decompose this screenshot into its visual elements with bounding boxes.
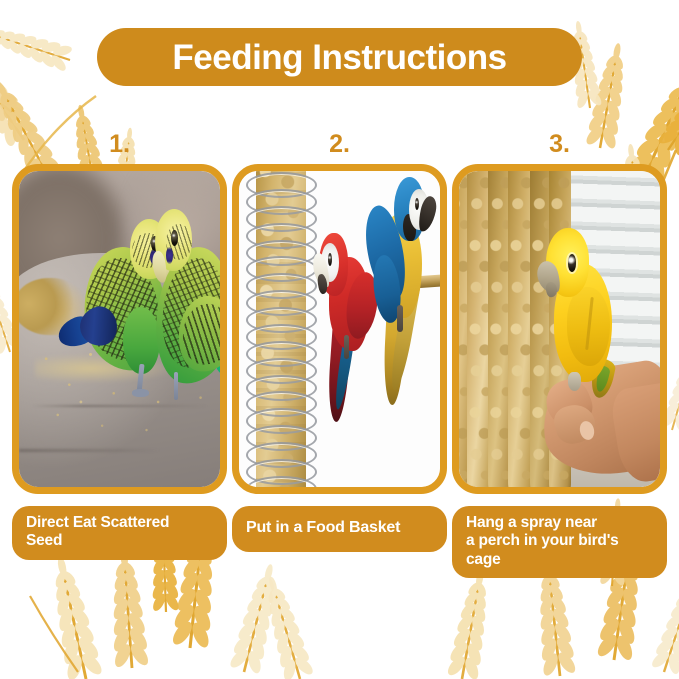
step-3-caption: Hang a spray near a perch in your bird's…	[452, 506, 667, 578]
scene1-rock-crack-2	[19, 449, 160, 452]
basket-wire-coil	[243, 172, 323, 487]
step-2-number: 2.	[232, 132, 447, 164]
step-1-photo	[19, 171, 220, 487]
blue-gold-macaw	[364, 177, 440, 405]
scarlet-macaw-leg	[344, 335, 349, 359]
yellow-conure	[539, 228, 619, 392]
infographic-page: Feeding Instructions 1.	[0, 0, 679, 679]
step-2: 2.	[232, 132, 447, 552]
budgerigar-right-leg	[174, 372, 179, 400]
step-1-number: 1.	[12, 132, 227, 164]
budgerigar-right	[152, 209, 220, 399]
step-3-number: 3.	[452, 132, 667, 164]
scarlet-macaw-eye	[328, 253, 332, 266]
step-3-photo	[459, 171, 660, 487]
spiral-food-basket	[243, 171, 323, 487]
step-2-photo-frame	[232, 164, 447, 494]
step-1-caption-text: Direct Eat Scattered Seed	[26, 514, 169, 551]
step-3-photo-frame	[452, 164, 667, 494]
budgerigar-right-eye	[171, 230, 178, 246]
step-1-caption: Direct Eat Scattered Seed	[12, 506, 227, 560]
step-2-photo	[239, 171, 440, 487]
step-2-caption-text: Put in a Food Basket	[246, 519, 400, 538]
step-2-caption: Put in a Food Basket	[232, 506, 447, 552]
step-1: 1.	[12, 132, 227, 560]
step-3-caption-text: Hang a spray near a perch in your bird's…	[466, 514, 619, 569]
budgerigar-left-foot	[132, 389, 149, 398]
page-title: Feeding Instructions	[172, 40, 506, 75]
blue-gold-macaw-eye	[415, 198, 419, 211]
step-1-photo-frame	[12, 164, 227, 494]
title-banner: Feeding Instructions	[97, 28, 582, 86]
conure-foot	[568, 372, 581, 390]
budgerigar-right-cheek-patch	[166, 247, 173, 264]
blue-gold-macaw-leg	[397, 305, 402, 332]
step-3: 3.	[452, 132, 667, 578]
